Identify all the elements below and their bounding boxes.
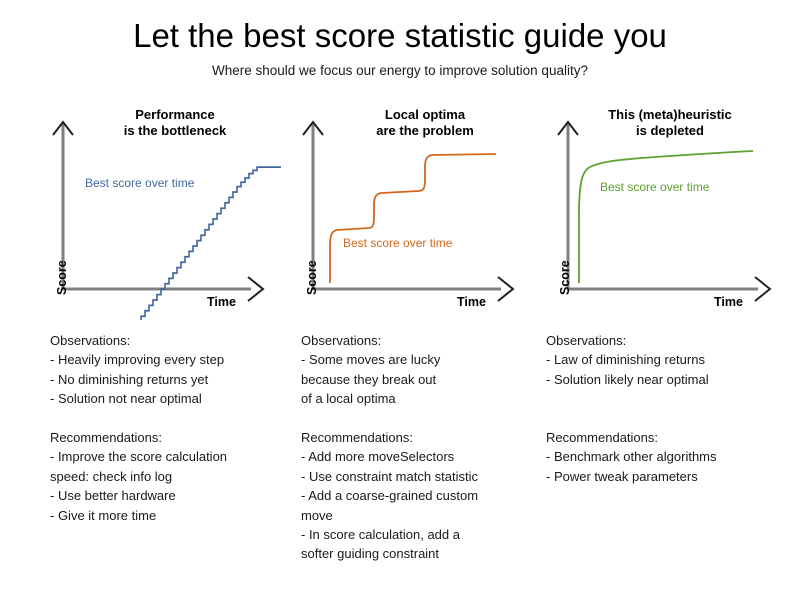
series-line-1 — [330, 154, 496, 283]
observations-line: - No diminishing returns yet — [50, 370, 290, 389]
recommendations-line: - Add a coarse-grained custom — [301, 486, 531, 505]
analysis-column-1: Observations: - Some moves are lucky bec… — [301, 331, 531, 564]
page-subtitle: Where should we focus our energy to impr… — [0, 54, 800, 78]
recommendations-line: - In score calculation, add a — [301, 525, 531, 544]
chart-canvas-0 — [35, 105, 285, 320]
chart-panel-performance-bottleneck: Performance is the bottleneck Score Time… — [35, 105, 285, 320]
observations-line: because they break out — [301, 370, 531, 389]
y-axis-label-0: Score — [55, 260, 69, 295]
chart-panel-local-optima: Local optima are the problem Score Time … — [285, 105, 535, 320]
series-line-2 — [579, 151, 753, 283]
observations-heading-2: Observations: — [546, 331, 786, 350]
x-axis-label-2: Time — [714, 295, 743, 309]
recommendations-heading-1: Recommendations: — [301, 428, 531, 447]
y-axis-label-1: Score — [305, 260, 319, 295]
analysis-column-2: Observations: - Law of diminishing retur… — [546, 331, 786, 486]
recommendations-line: softer guiding constraint — [301, 544, 531, 563]
observations-heading-0: Observations: — [50, 331, 290, 350]
page-title: Let the best score statistic guide you — [0, 0, 800, 54]
analysis-column-0: Observations: - Heavily improving every … — [50, 331, 290, 525]
series-annotation-0: Best score over time — [85, 176, 194, 190]
recommendations-line: speed: check info log — [50, 467, 290, 486]
observations-line: - Heavily improving every step — [50, 350, 290, 369]
page-header: Let the best score statistic guide you W… — [0, 0, 800, 78]
x-axis-label-0: Time — [207, 295, 236, 309]
series-line-0 — [113, 167, 281, 320]
observations-heading-1: Observations: — [301, 331, 531, 350]
recommendations-line: - Use constraint match statistic — [301, 467, 531, 486]
observations-line: - Solution likely near optimal — [546, 370, 786, 389]
recommendations-line: - Benchmark other algorithms — [546, 447, 786, 466]
column-spacer — [301, 409, 531, 428]
x-axis-label-1: Time — [457, 295, 486, 309]
series-annotation-2: Best score over time — [600, 180, 709, 194]
column-spacer — [546, 409, 786, 428]
observations-line: - Some moves are lucky — [301, 350, 531, 369]
observations-line: of a local optima — [301, 389, 531, 408]
observations-line: - Law of diminishing returns — [546, 350, 786, 369]
recommendations-line: - Add more moveSelectors — [301, 447, 531, 466]
column-spacer — [50, 409, 290, 428]
recommendations-line: - Use better hardware — [50, 486, 290, 505]
chart-panels-row: Performance is the bottleneck Score Time… — [0, 105, 800, 320]
y-axis-label-2: Score — [558, 260, 572, 295]
recommendations-line: - Improve the score calculation — [50, 447, 290, 466]
analysis-columns: Observations: - Heavily improving every … — [0, 331, 800, 596]
chart-canvas-1 — [285, 105, 535, 320]
observations-line: - Solution not near optimal — [50, 389, 290, 408]
recommendations-heading-0: Recommendations: — [50, 428, 290, 447]
chart-panel-heuristic-depleted: This (meta)heuristic is depleted Score T… — [530, 105, 780, 320]
recommendations-line: - Power tweak parameters — [546, 467, 786, 486]
series-annotation-1: Best score over time — [343, 236, 452, 250]
recommendations-line: move — [301, 506, 531, 525]
recommendations-line: - Give it more time — [50, 506, 290, 525]
recommendations-heading-2: Recommendations: — [546, 428, 786, 447]
column-spacer — [546, 389, 786, 408]
